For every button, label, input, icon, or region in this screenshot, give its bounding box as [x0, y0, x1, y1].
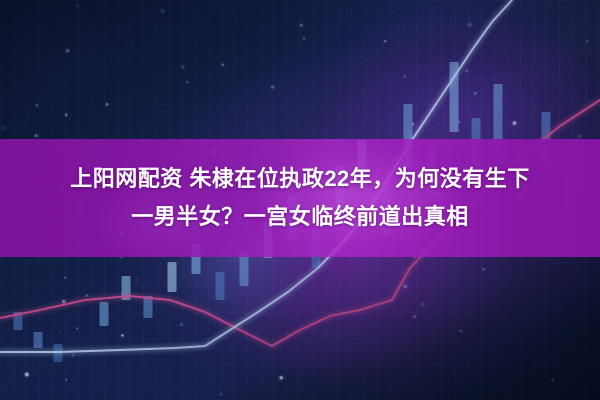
headline-line-2: 一男半女？一宫女临终前道出真相 [131, 198, 469, 236]
headline-banner: 上阳网配资 朱棣在位执政22年，为何没有生下 一男半女？一宫女临终前道出真相 [0, 139, 600, 257]
headline-line-1: 上阳网配资 朱棣在位执政22年，为何没有生下 [70, 160, 530, 198]
promo-banner-image: 上阳网配资 朱棣在位执政22年，为何没有生下 一男半女？一宫女临终前道出真相 [0, 0, 600, 400]
